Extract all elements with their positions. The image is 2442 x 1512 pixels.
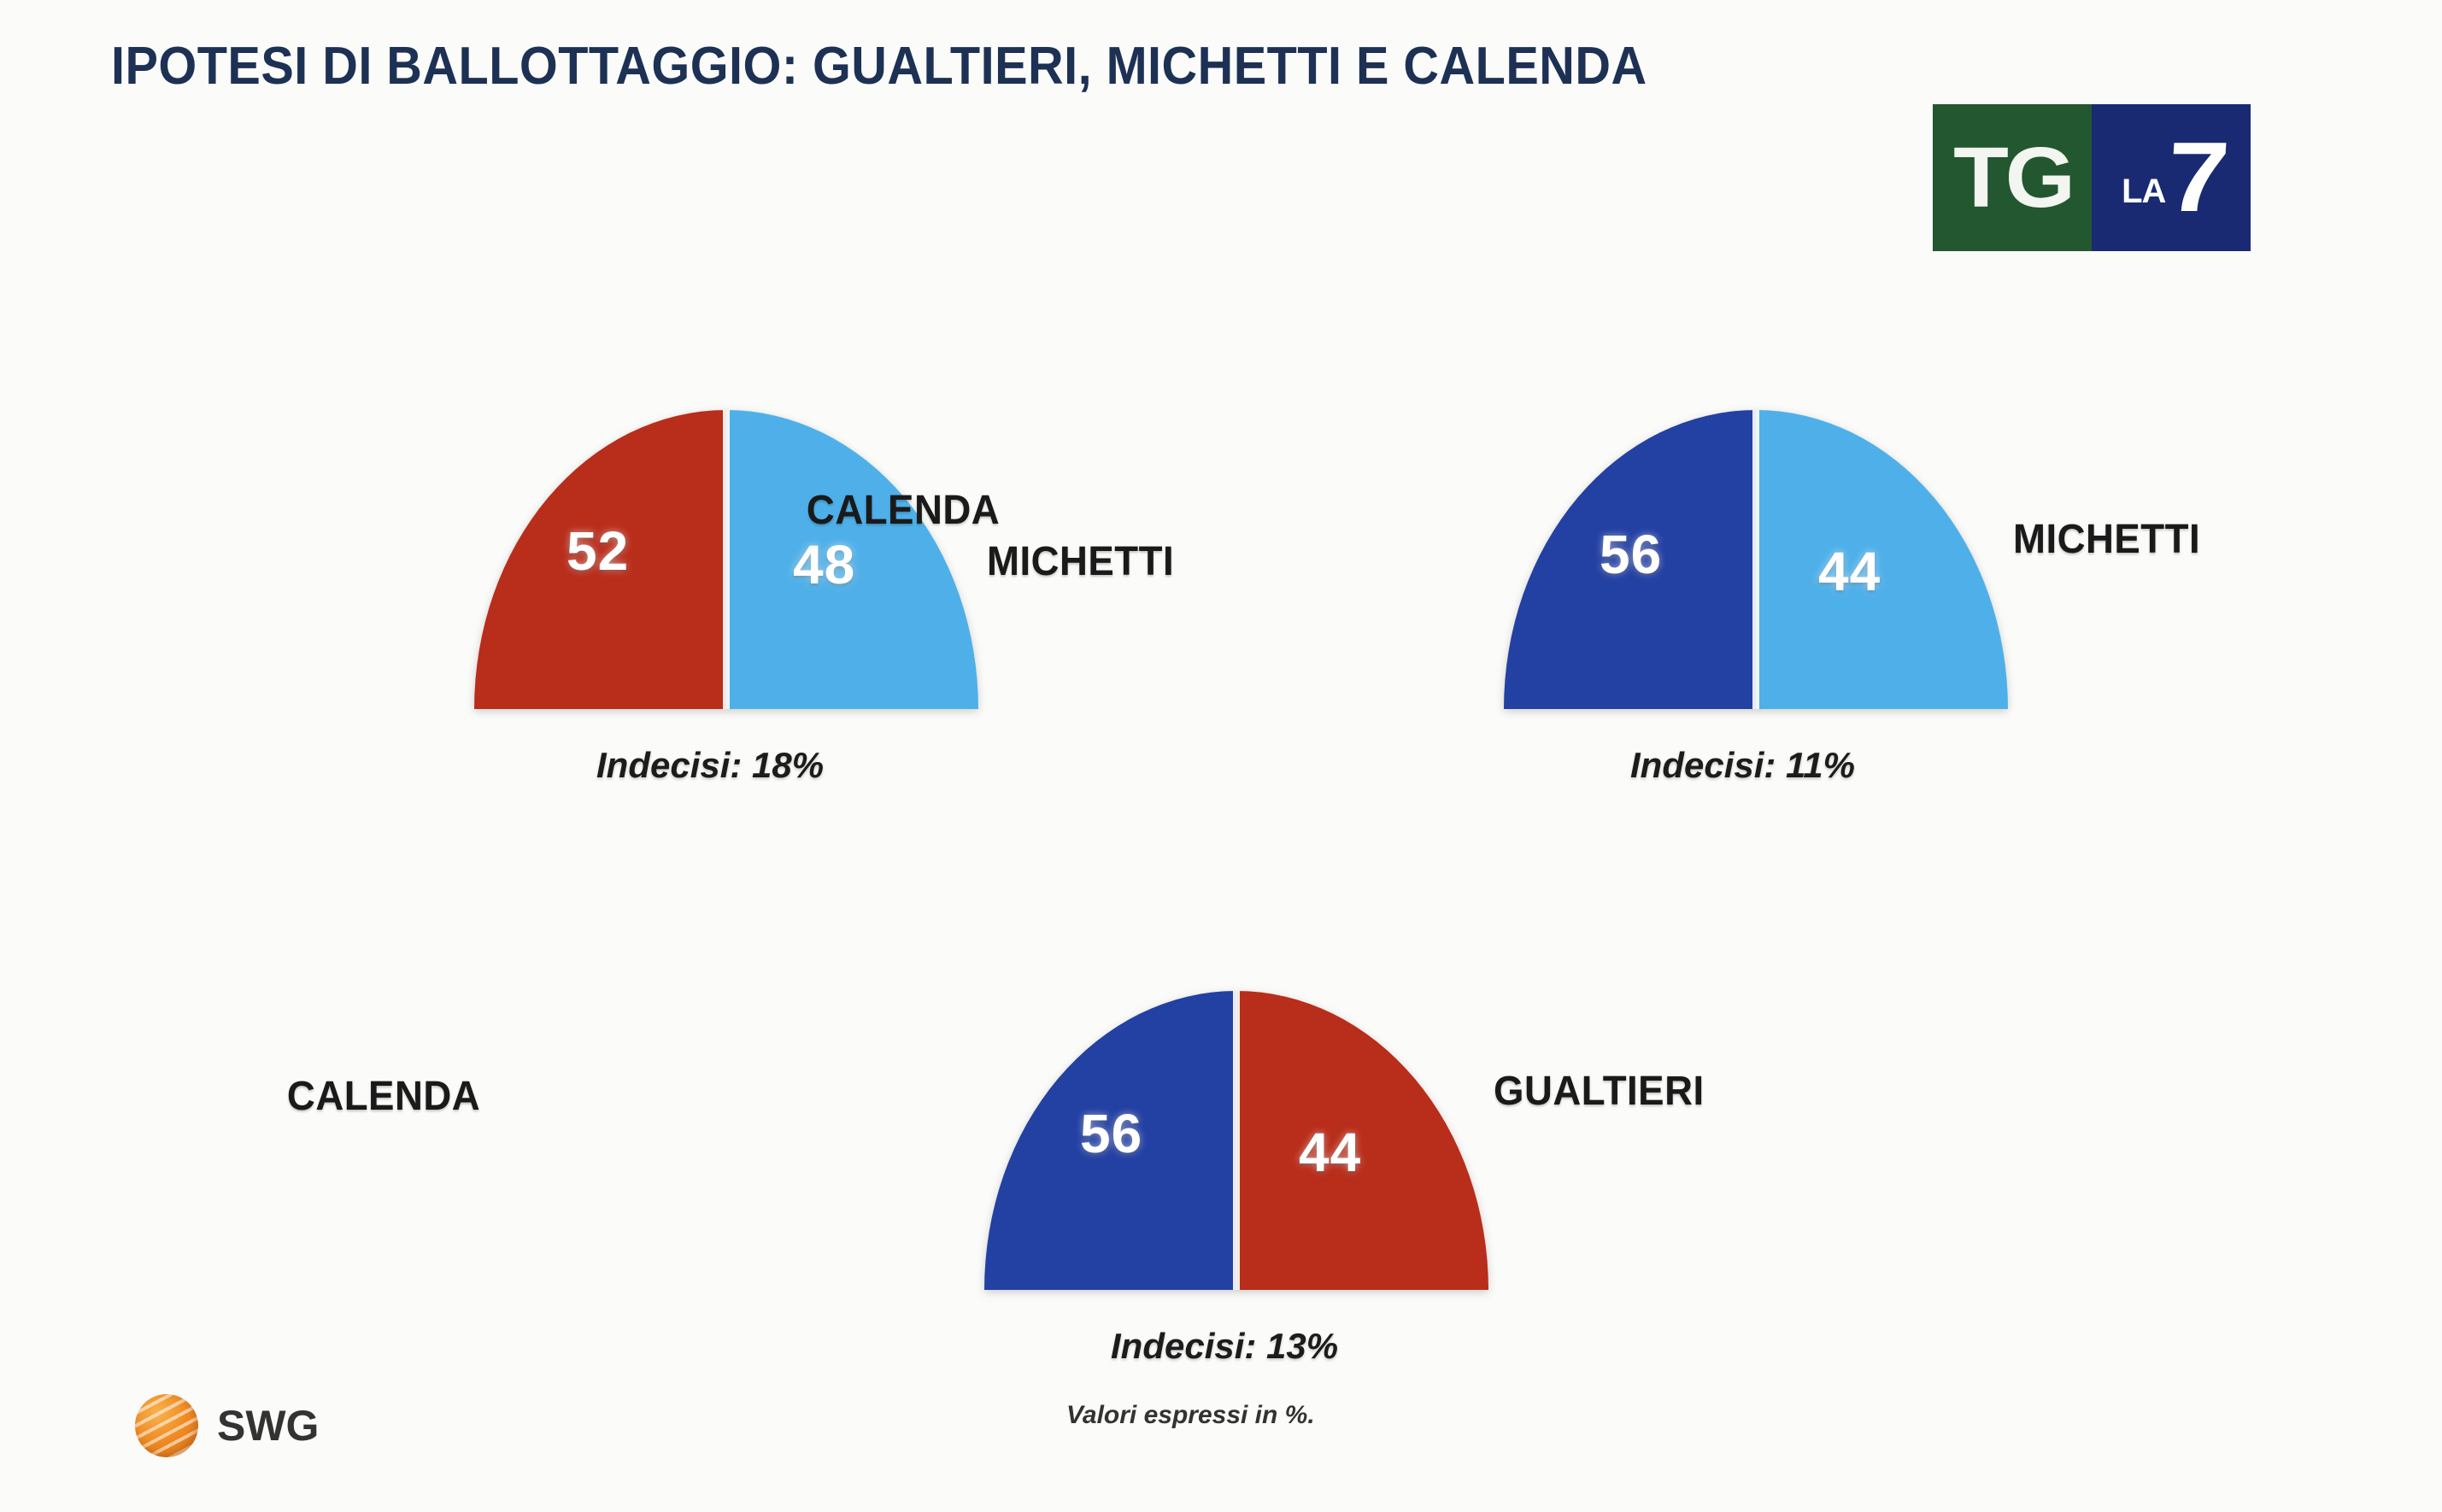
slice-value-right: 44 [1299, 1121, 1361, 1184]
swg-logo: SWG [135, 1394, 319, 1457]
swg-brand-text: SWG [217, 1401, 319, 1450]
undecided-label: Indecisi: 13% [1111, 1326, 1338, 1367]
logo-navy-panel: LA 7 [2092, 104, 2251, 251]
slice-value-right: 48 [793, 533, 855, 596]
slice-right [1236, 991, 1488, 1290]
undecided-label: Indecisi: 18% [596, 745, 824, 786]
slice-value-right: 44 [1818, 540, 1881, 603]
dome-graphic [1504, 410, 2008, 709]
chart-label-right: MICHETTI [987, 538, 1174, 585]
slice-value-left: 56 [1600, 523, 1662, 586]
logo-green-panel: TG [1933, 104, 2092, 251]
slice-value-left: 56 [1080, 1102, 1142, 1165]
dome-graphic [984, 991, 1488, 1290]
logo-la-text: LA [2122, 174, 2165, 220]
footnote-values-in-percent: Valori espressi in %. [1066, 1401, 1315, 1430]
slice-value-left: 52 [566, 519, 629, 583]
dome-graphic [474, 410, 978, 709]
chart-label-right: MICHETTI [2013, 516, 2200, 563]
chart-label-right: GUALTIERI [1494, 1068, 1705, 1115]
tg-la7-logo: TG LA 7 [1933, 104, 2251, 251]
page-title: IPOTESI DI BALLOTTAGGIO: GUALTIERI, MICH… [111, 36, 1647, 97]
slice-right [1756, 410, 2008, 709]
logo-seven-text: 7 [2165, 135, 2226, 220]
swg-sphere-icon [135, 1394, 198, 1457]
chart-label-left: CALENDA [807, 487, 1000, 534]
logo-tg-text: TG [1953, 135, 2072, 220]
undecided-label: Indecisi: 11% [1630, 745, 1855, 786]
chart-label-left: CALENDA [287, 1073, 480, 1120]
logo-la7-wrap: LA 7 [2122, 135, 2221, 220]
